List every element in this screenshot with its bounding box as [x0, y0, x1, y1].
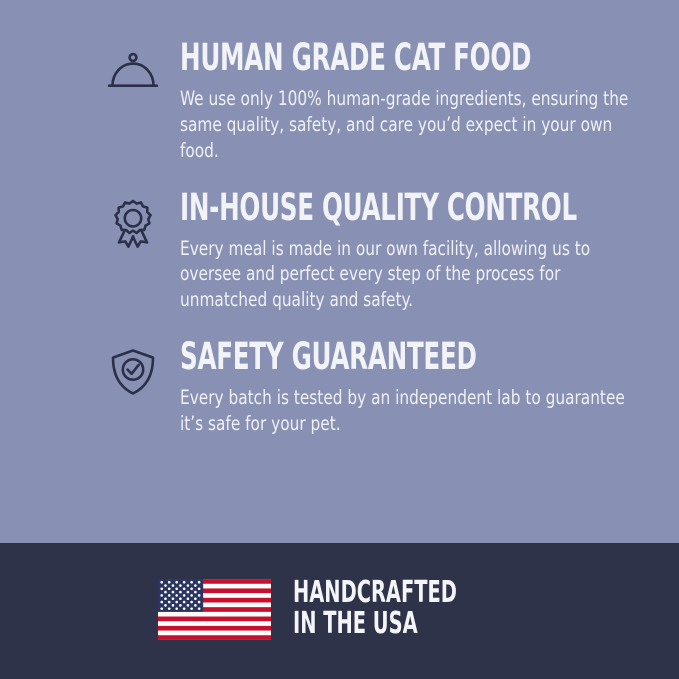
footer-line-handcrafted: HANDCRAFTED [293, 578, 457, 609]
feature-body: IN-HOUSE QUALITY CONTROL Every meal is m… [180, 190, 639, 314]
usa-flag-icon [158, 579, 271, 640]
feature-title: SAFETY GUARANTEED [180, 339, 520, 375]
feature-description: Every batch is tested by an independent … [180, 385, 639, 437]
feature-list: HUMAN GRADE CAT FOOD We use only 100% hu… [0, 0, 679, 437]
feature-description: We use only 100% human-grade ingredients… [180, 86, 639, 164]
cloche-icon [104, 44, 162, 102]
shield-check-icon [104, 343, 162, 401]
footer-band: HANDCRAFTED IN THE USA [0, 543, 679, 679]
footer-line-in-the-usa: IN THE USA [293, 609, 457, 640]
feature-description: Every meal is made in our own facility, … [180, 236, 639, 314]
feature-item-safety-guaranteed: SAFETY GUARANTEED Every batch is tested … [104, 339, 639, 437]
feature-body: HUMAN GRADE CAT FOOD We use only 100% hu… [180, 40, 639, 164]
feature-title: HUMAN GRADE CAT FOOD [180, 40, 520, 76]
product-feature-panel: HUMAN GRADE CAT FOOD We use only 100% hu… [0, 0, 679, 679]
feature-title: IN-HOUSE QUALITY CONTROL [180, 190, 520, 226]
footer-content: HANDCRAFTED IN THE USA [158, 578, 521, 640]
feature-body: SAFETY GUARANTEED Every batch is tested … [180, 339, 639, 437]
feature-item-human-grade: HUMAN GRADE CAT FOOD We use only 100% hu… [104, 40, 639, 164]
footer-text-block: HANDCRAFTED IN THE USA [293, 578, 521, 640]
award-rosette-icon [104, 194, 162, 252]
feature-item-quality-control: IN-HOUSE QUALITY CONTROL Every meal is m… [104, 190, 639, 314]
